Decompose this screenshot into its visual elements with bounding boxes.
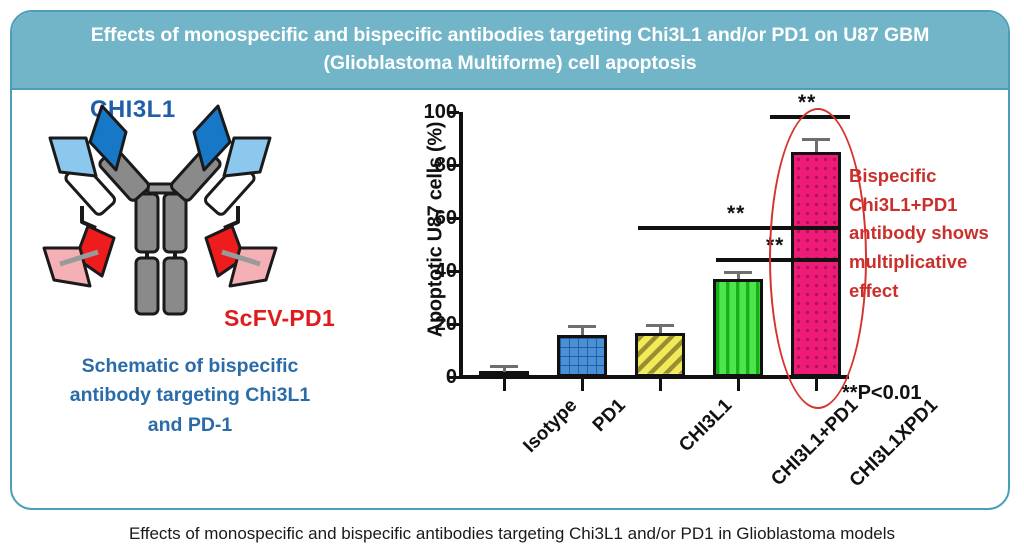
figure-body: CHI3L1 ScFV-PD1 bbox=[12, 90, 1008, 510]
y-tickmark-40 bbox=[447, 270, 459, 273]
schematic-caption: Schematic of bispecific antibody targeti… bbox=[20, 352, 360, 440]
x-tickmark-1 bbox=[581, 379, 584, 391]
y-tickmark-100 bbox=[447, 111, 459, 114]
error-bar-4 bbox=[815, 141, 818, 152]
y-tickmark-0 bbox=[447, 376, 459, 379]
figure-bottom-caption: Effects of monospecific and bispecific a… bbox=[0, 524, 1024, 544]
error-cap-2 bbox=[646, 324, 674, 327]
bar-chi3l1-pd1[interactable] bbox=[713, 279, 763, 377]
bispecific-annotation: Bispecific Chi3L1+PD1 antibody shows mul… bbox=[849, 162, 1010, 305]
schematic-caption-line1: Schematic of bispecific bbox=[20, 352, 360, 381]
bracket-top-line bbox=[770, 115, 850, 119]
ch2-left bbox=[136, 194, 158, 252]
error-bar-0 bbox=[503, 368, 506, 372]
annotation-line4: multiplicative bbox=[849, 248, 1010, 277]
bar-isotype[interactable] bbox=[479, 371, 529, 377]
bar-chi3l1xpd1[interactable] bbox=[791, 152, 841, 377]
header-title-line2: (Glioblastoma Multiforme) cell apoptosis bbox=[323, 50, 696, 78]
y-axis-line bbox=[459, 112, 463, 377]
vl-right bbox=[224, 138, 270, 176]
ch2-right bbox=[164, 194, 186, 252]
schematic-caption-line2: antibody targeting Chi3L1 bbox=[20, 381, 360, 410]
apoptosis-bar-chart: Apoptotic U87 cells (%) 020406080100 ***… bbox=[397, 90, 1010, 510]
header-title-line1: Effects of monospecific and bispecific a… bbox=[91, 22, 930, 50]
error-cap-3 bbox=[724, 271, 752, 274]
error-cap-4 bbox=[802, 138, 830, 141]
bar-chi3l1[interactable] bbox=[635, 333, 685, 377]
bracket-combo-vs-bispecific-stars: ** bbox=[766, 234, 784, 258]
x-label-isotype: Isotype bbox=[519, 395, 582, 458]
figure-header: Effects of monospecific and bispecific a… bbox=[12, 12, 1008, 90]
x-tickmark-0 bbox=[503, 379, 506, 391]
annotation-line5: effect bbox=[849, 277, 1010, 306]
plot-area: ****** bbox=[459, 112, 849, 377]
annotation-line2: Chi3L1+PD1 bbox=[849, 191, 1010, 220]
y-axis-ticks: 020406080100 bbox=[405, 90, 457, 510]
y-tickmark-60 bbox=[447, 217, 459, 220]
vl-left bbox=[50, 138, 96, 176]
ch3-left bbox=[136, 258, 158, 314]
error-bar-1 bbox=[581, 328, 584, 335]
error-cap-1 bbox=[568, 325, 596, 328]
antibody-schematic-panel: CHI3L1 ScFV-PD1 bbox=[12, 90, 397, 510]
bracket-combo-vs-bispecific-line bbox=[716, 258, 840, 262]
bar-pd1[interactable] bbox=[557, 335, 607, 377]
x-label-chi3l1: CHI3L1 bbox=[675, 395, 737, 457]
x-tickmark-3 bbox=[737, 379, 740, 391]
bispecific-antibody-diagram bbox=[30, 98, 290, 348]
x-label-pd1: PD1 bbox=[589, 395, 631, 437]
error-cap-0 bbox=[490, 365, 518, 368]
x-tickmark-2 bbox=[659, 379, 662, 391]
x-tickmark-4 bbox=[815, 379, 818, 391]
figure-panel: Effects of monospecific and bispecific a… bbox=[10, 10, 1010, 510]
error-bar-2 bbox=[659, 327, 662, 334]
y-tickmark-20 bbox=[447, 323, 459, 326]
ch3-right bbox=[164, 258, 186, 314]
annotation-line1: Bispecific bbox=[849, 162, 1010, 191]
y-tickmark-80 bbox=[447, 164, 459, 167]
error-bar-3 bbox=[737, 274, 740, 279]
bracket-chi3l1-vs-bispecific-line bbox=[638, 226, 840, 230]
bracket-chi3l1-vs-bispecific-stars: ** bbox=[727, 202, 745, 226]
annotation-line3: antibody shows bbox=[849, 219, 1010, 248]
schematic-caption-line3: and PD-1 bbox=[20, 411, 360, 440]
bracket-top-stars: ** bbox=[798, 91, 816, 115]
